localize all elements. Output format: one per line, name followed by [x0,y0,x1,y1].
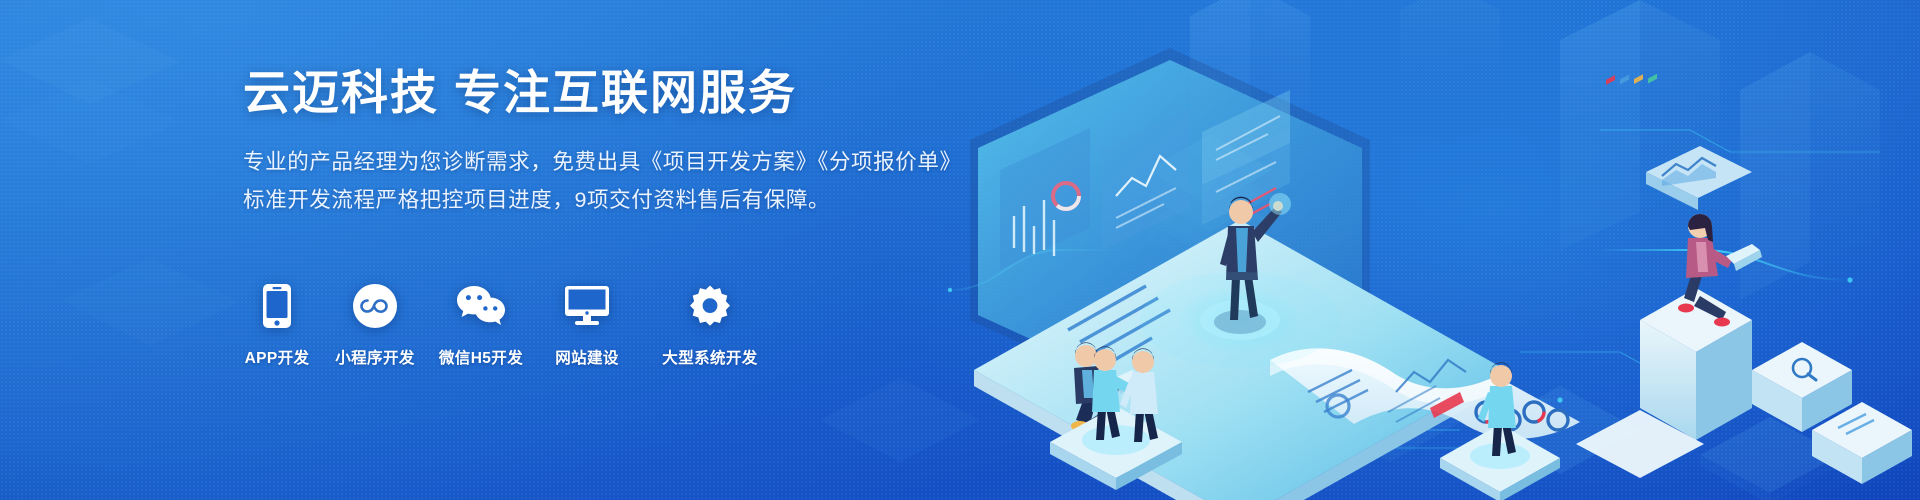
service-label: 小程序开发 [335,346,415,368]
content-layer: 云迈科技 专注互联网服务 专业的产品经理为您诊断需求，免费出具《项目开发方案》《… [0,0,1920,500]
service-item-app[interactable]: APP开发 [246,281,308,368]
mobile-phone-icon [262,281,292,331]
hero-copy: 云迈科技 专注互联网服务 专业的产品经理为您诊断需求，免费出具《项目开发方案》《… [243,66,943,219]
service-item-wechat-h5[interactable]: 微信H5开发 [442,281,520,368]
service-label: 大型系统开发 [662,346,757,368]
subtitle-line-1: 专业的产品经理为您诊断需求，免费出具《项目开发方案》《分项报价单》 [243,144,943,181]
service-label: APP开发 [245,346,310,368]
subtitle-line-2: 标准开发流程严格把控项目进度，9项交付资料售后有保障。 [243,182,943,219]
desktop-monitor-icon [564,281,610,331]
service-item-large-system[interactable]: 大型系统开发 [654,281,766,368]
service-label: 微信H5开发 [439,346,523,368]
service-list: APP开发 小程序开发 [246,281,766,368]
hero-banner: 云迈科技 专注互联网服务 专业的产品经理为您诊断需求，免费出具《项目开发方案》《… [0,0,1920,500]
hero-subtitle: 专业的产品经理为您诊断需求，免费出具《项目开发方案》《分项报价单》 标准开发流程… [243,144,943,220]
wechat-chat-icon [455,281,507,331]
service-label: 网站建设 [555,346,619,368]
gear-icon [688,281,732,331]
service-item-website[interactable]: 网站建设 [548,281,626,368]
wechat-miniprogram-icon [352,281,398,331]
page-title: 云迈科技 专注互联网服务 [243,66,943,121]
service-item-miniprogram[interactable]: 小程序开发 [336,281,414,368]
